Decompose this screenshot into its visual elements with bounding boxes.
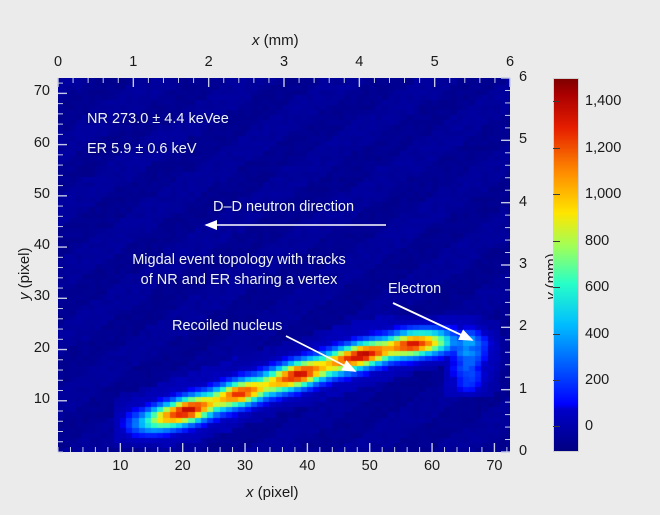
axis-tick-label: 5 bbox=[519, 131, 527, 147]
axis-tick-label: 30 bbox=[237, 458, 253, 474]
axis-tick-label: 60 bbox=[34, 135, 50, 151]
axis-tick-label: 70 bbox=[486, 458, 502, 474]
bottom-axis-unit: (pixel) bbox=[258, 484, 299, 501]
axis-tick-label: 1 bbox=[519, 381, 527, 397]
colorbar-tick-mark bbox=[553, 334, 560, 335]
annotation-arrows bbox=[58, 78, 510, 452]
axis-tick-label: 2 bbox=[519, 318, 527, 334]
axis-tick-label: 40 bbox=[34, 237, 50, 253]
axis-tick-label: 4 bbox=[355, 54, 363, 70]
top-axis-symbol: x bbox=[252, 32, 260, 49]
left-axis-unit: (pixel) bbox=[16, 247, 33, 288]
colorbar-tick-label: 1,200 bbox=[585, 140, 621, 156]
colorbar bbox=[553, 78, 579, 452]
axis-tick-label: 10 bbox=[112, 458, 128, 474]
migdal-event-figure: x (mm) 0123456 x (pixel) 10203040506070 … bbox=[0, 0, 660, 515]
axis-tick-label: 20 bbox=[175, 458, 191, 474]
colorbar-tick-label: 200 bbox=[585, 372, 609, 388]
top-axis-unit: (mm) bbox=[264, 32, 299, 49]
colorbar-tick-label: 0 bbox=[585, 418, 593, 434]
colorbar-tick-mark bbox=[553, 194, 560, 195]
bottom-axis-label: x (pixel) bbox=[246, 484, 299, 501]
colorbar-tick-mark bbox=[553, 380, 560, 381]
left-axis-symbol: y bbox=[16, 293, 33, 301]
axis-tick-label: 70 bbox=[34, 83, 50, 99]
bottom-axis-symbol: x bbox=[246, 484, 254, 501]
colorbar-tick-label: 1,000 bbox=[585, 186, 621, 202]
colorbar-gradient bbox=[554, 79, 578, 451]
axis-tick-label: 0 bbox=[519, 443, 527, 459]
colorbar-tick-label: 400 bbox=[585, 326, 609, 342]
axis-tick-label: 3 bbox=[280, 54, 288, 70]
axis-tick-label: 20 bbox=[34, 340, 50, 356]
axis-tick-label: 30 bbox=[34, 288, 50, 304]
colorbar-tick-mark bbox=[553, 101, 560, 102]
axis-tick-label: 50 bbox=[34, 186, 50, 202]
axis-tick-label: 6 bbox=[506, 54, 514, 70]
colorbar-tick-label: 1,400 bbox=[585, 93, 621, 109]
colorbar-tick-mark bbox=[553, 426, 560, 427]
axis-tick-label: 2 bbox=[205, 54, 213, 70]
axis-tick-label: 3 bbox=[519, 256, 527, 272]
colorbar-tick-label: 600 bbox=[585, 279, 609, 295]
left-axis-label: y (pixel) bbox=[16, 247, 33, 300]
colorbar-tick-mark bbox=[553, 287, 560, 288]
colorbar-tick-label: 800 bbox=[585, 233, 609, 249]
axis-tick-label: 0 bbox=[54, 54, 62, 70]
axis-tick-label: 6 bbox=[519, 69, 527, 85]
axis-tick-label: 4 bbox=[519, 194, 527, 210]
heatmap-plot-area: NR 273.0 ± 4.4 keVee ER 5.9 ± 0.6 keV D–… bbox=[58, 78, 510, 452]
recoiled-nucleus-arrow bbox=[286, 336, 355, 371]
axis-tick-label: 40 bbox=[299, 458, 315, 474]
colorbar-tick-mark bbox=[553, 241, 560, 242]
top-axis-label: x (mm) bbox=[252, 32, 299, 49]
axis-tick-label: 1 bbox=[129, 54, 137, 70]
axis-tick-label: 10 bbox=[34, 391, 50, 407]
colorbar-tick-mark bbox=[553, 148, 560, 149]
axis-tick-label: 60 bbox=[424, 458, 440, 474]
axis-tick-label: 5 bbox=[431, 54, 439, 70]
electron-arrow bbox=[393, 303, 472, 340]
axis-tick-label: 50 bbox=[362, 458, 378, 474]
